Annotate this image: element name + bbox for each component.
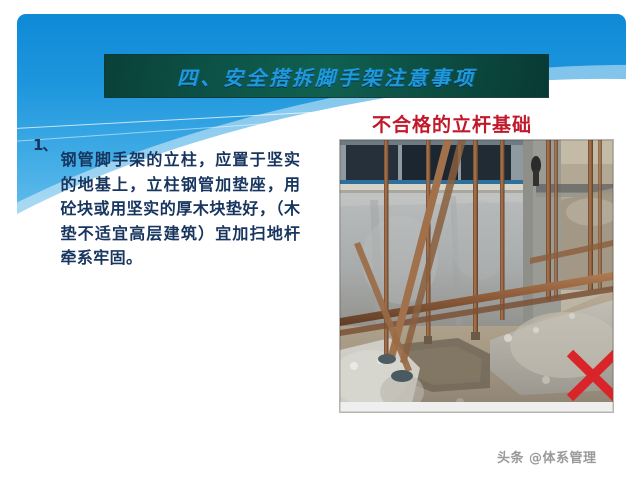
construction-site-photo — [340, 140, 613, 412]
photo-artwork — [340, 140, 613, 412]
bullet-number: 1、 — [33, 132, 56, 155]
slide-title-banner: 四、安全搭拆脚手架注意事项 — [105, 55, 548, 97]
body-paragraph: 钢管脚手架的立柱，应置于坚实的地基上，立柱钢管加垫座，用砼块或用坚实的厚木块垫好… — [60, 148, 300, 271]
slide-title-text: 四、安全搭拆脚手架注意事项 — [177, 62, 476, 91]
body-text-block: 1、 钢管脚手架的立柱，应置于坚实的地基上，立柱钢管加垫座，用砼块或用坚实的厚木… — [33, 132, 323, 287]
photo-heading: 不合格的立杆基础 — [372, 110, 532, 137]
presentation-slide: 四、安全搭拆脚手架注意事项 1、 钢管脚手架的立柱，应置于坚实的地基上，立柱钢管… — [0, 0, 640, 480]
watermark-text: 头条 @体系管理 — [497, 447, 597, 466]
